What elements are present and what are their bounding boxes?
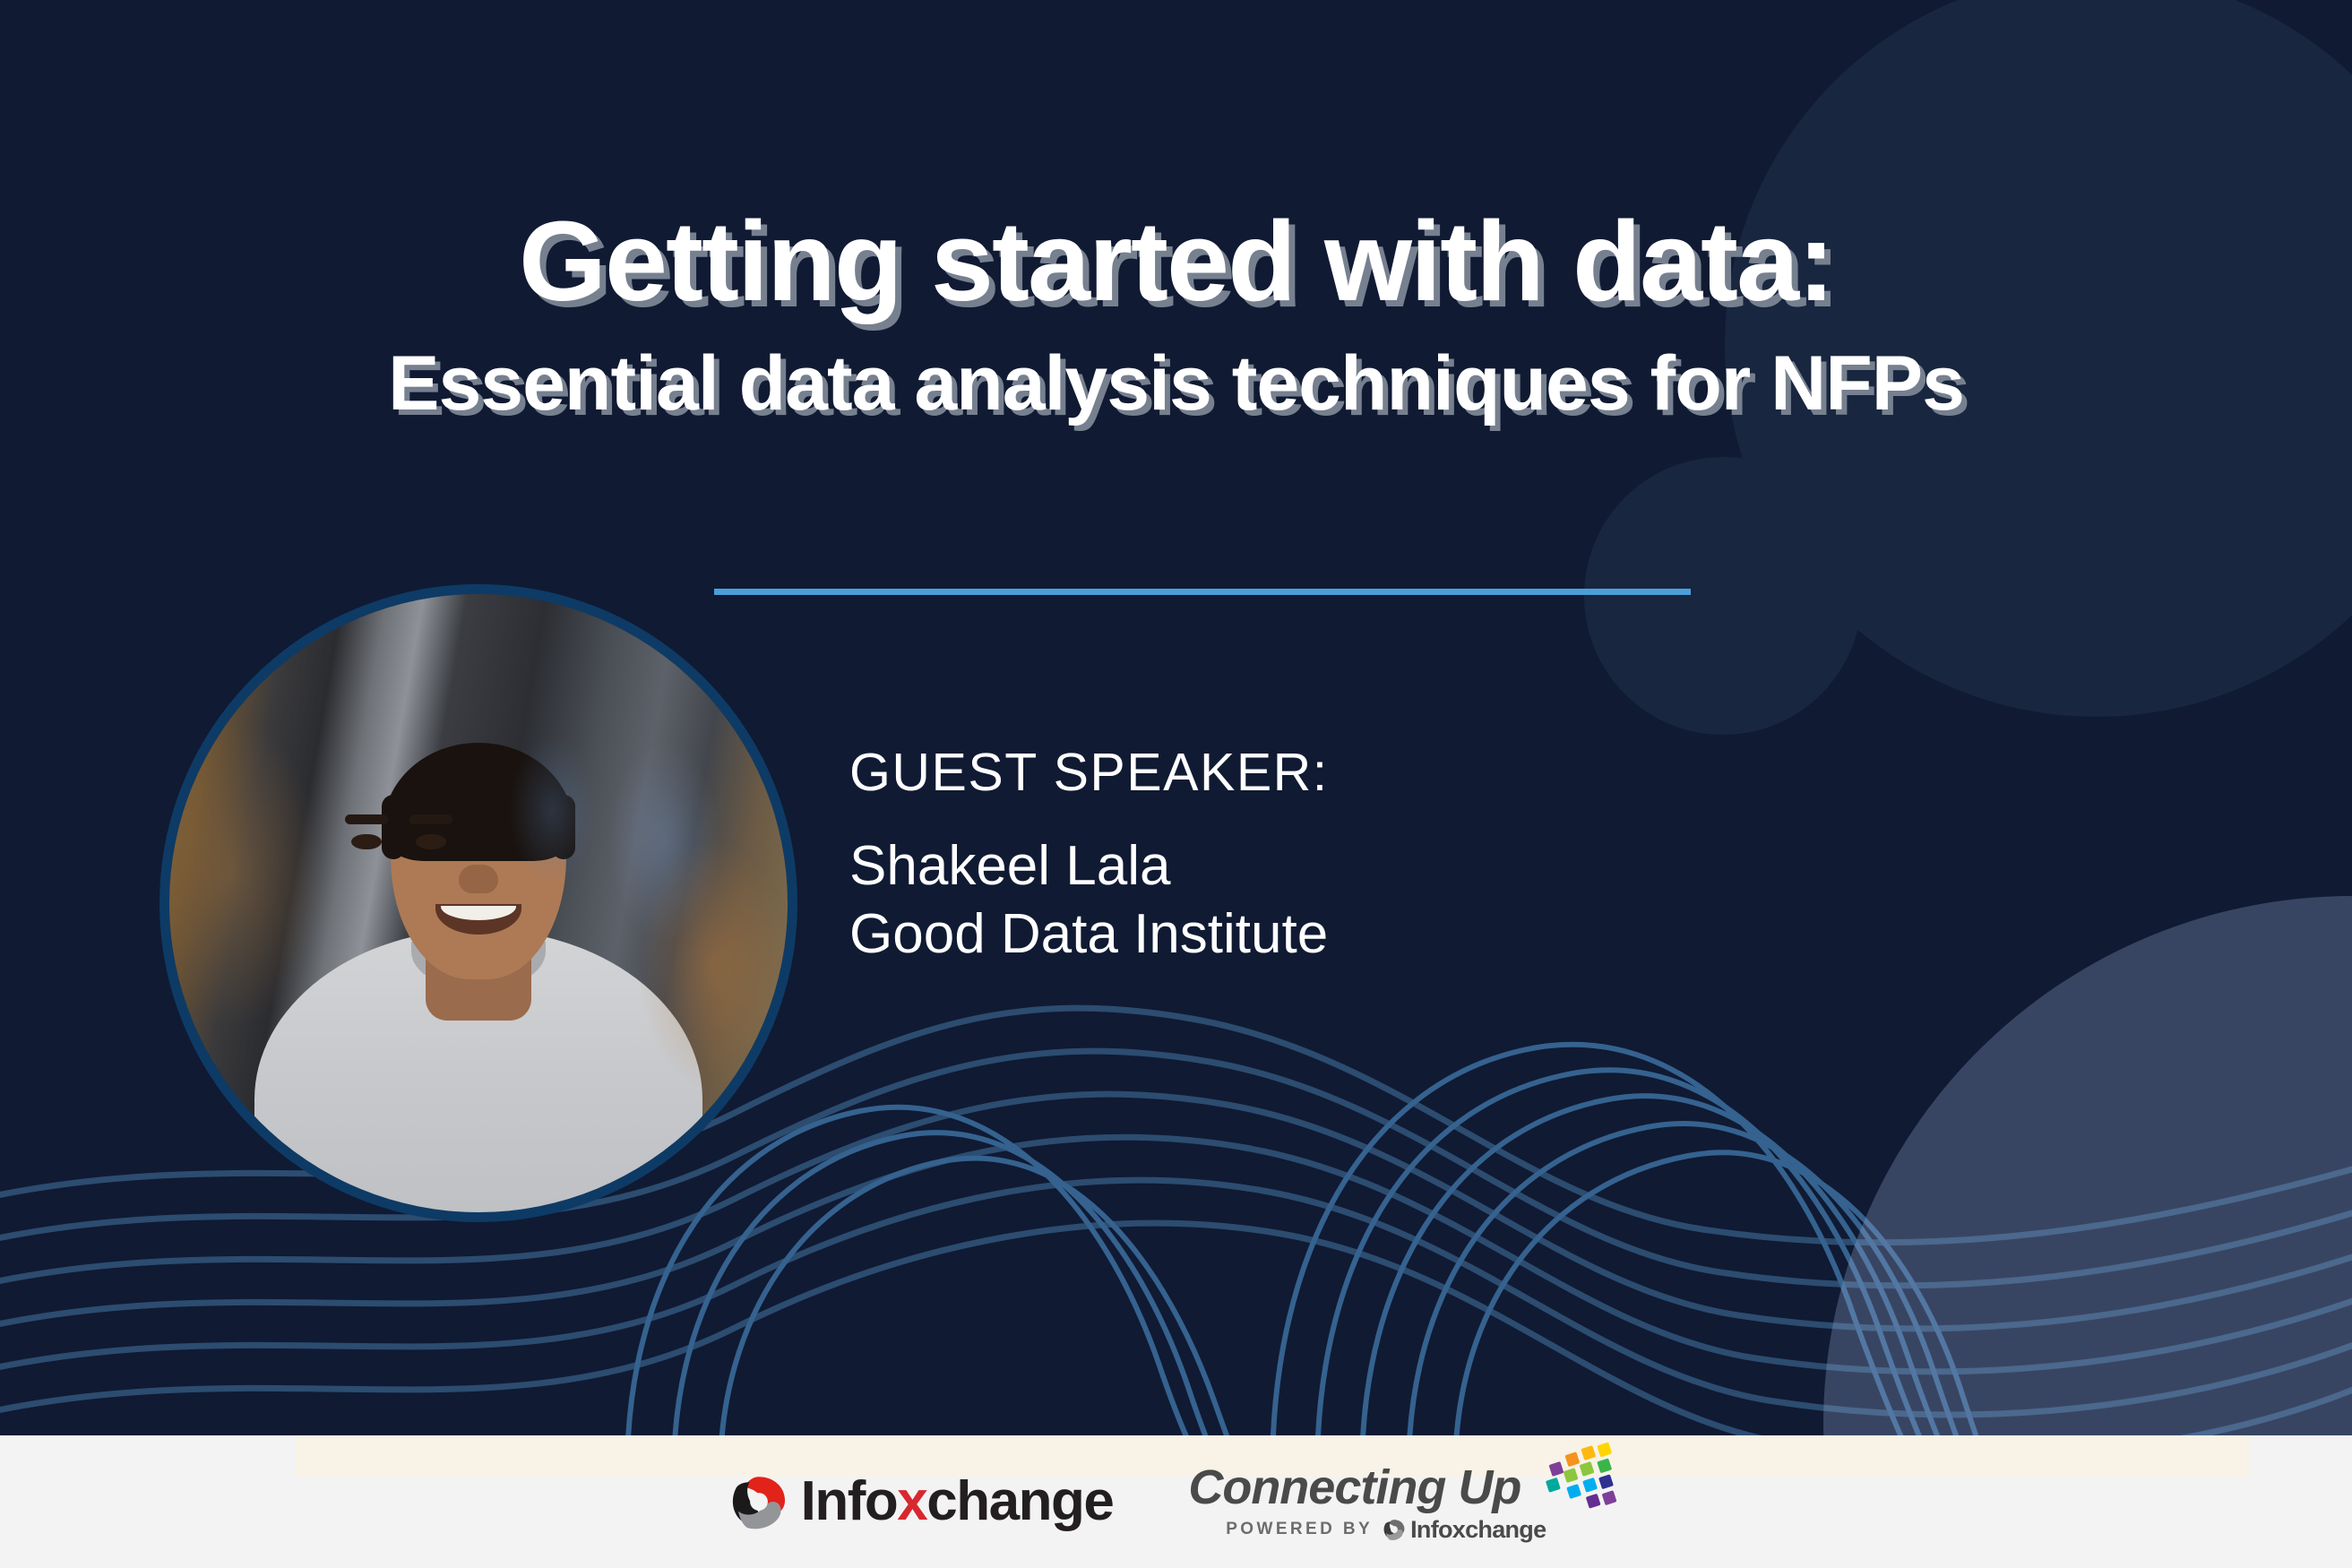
- presentation-slide: Getting started with data: Essential dat…: [0, 0, 2352, 1568]
- speaker-photo: [169, 594, 788, 1212]
- title-block: Getting started with data: Essential dat…: [0, 204, 2352, 424]
- portrait-brow-left: [345, 814, 388, 824]
- portrait-brow-right: [409, 814, 452, 824]
- portrait-mouth: [435, 904, 521, 935]
- portrait-teeth: [441, 906, 516, 920]
- accent-divider: [714, 589, 1691, 595]
- speaker-avatar: [159, 584, 797, 1222]
- portrait-sweater: [254, 929, 702, 1222]
- infoxchange-wordmark: Infoxchange: [801, 1474, 1114, 1529]
- speaker-details: GUEST SPEAKER: Shakeel Lala Good Data In…: [849, 744, 1329, 968]
- speaker-label: GUEST SPEAKER:: [849, 744, 1329, 802]
- portrait-head: [391, 754, 566, 979]
- page-title: Getting started with data:: [0, 204, 2352, 320]
- connecting-up-wordmark: Connecting Up: [1188, 1462, 1521, 1513]
- powered-by-infoxchange-wordmark: Infoxchange: [1410, 1518, 1546, 1542]
- portrait-eye-right: [416, 834, 446, 849]
- portrait-collar: [411, 942, 546, 990]
- portrait-neck: [426, 927, 531, 1021]
- portrait-hair: [383, 743, 573, 861]
- connecting-up-powered-by: POWERED BY Infoxchange: [1226, 1518, 1546, 1542]
- speaker-organisation: Good Data Institute: [849, 900, 1329, 969]
- footer-bar: Infoxchange Connecting Up: [0, 1435, 2352, 1568]
- powered-by-label: POWERED BY: [1226, 1520, 1373, 1539]
- powered-by-infoxchange: Infoxchange: [1383, 1518, 1546, 1542]
- connecting-up-row: Connecting Up: [1188, 1462, 1623, 1516]
- speaker-name: Shakeel Lala: [849, 832, 1329, 900]
- portrait-nose: [459, 865, 498, 893]
- page-subtitle: Essential data analysis techniques for N…: [0, 343, 2352, 424]
- connecting-up-logo: Connecting Up: [1188, 1462, 1623, 1542]
- infoxchange-logo: Infoxchange: [729, 1472, 1114, 1531]
- infoxchange-pinwheel-mini-icon: [1383, 1518, 1406, 1541]
- infoxchange-pinwheel-icon: [729, 1472, 788, 1531]
- portrait-eye-left: [351, 834, 382, 849]
- connecting-up-arc-icon: [1526, 1439, 1623, 1516]
- decor-circle-top-right-small: [1584, 457, 1862, 735]
